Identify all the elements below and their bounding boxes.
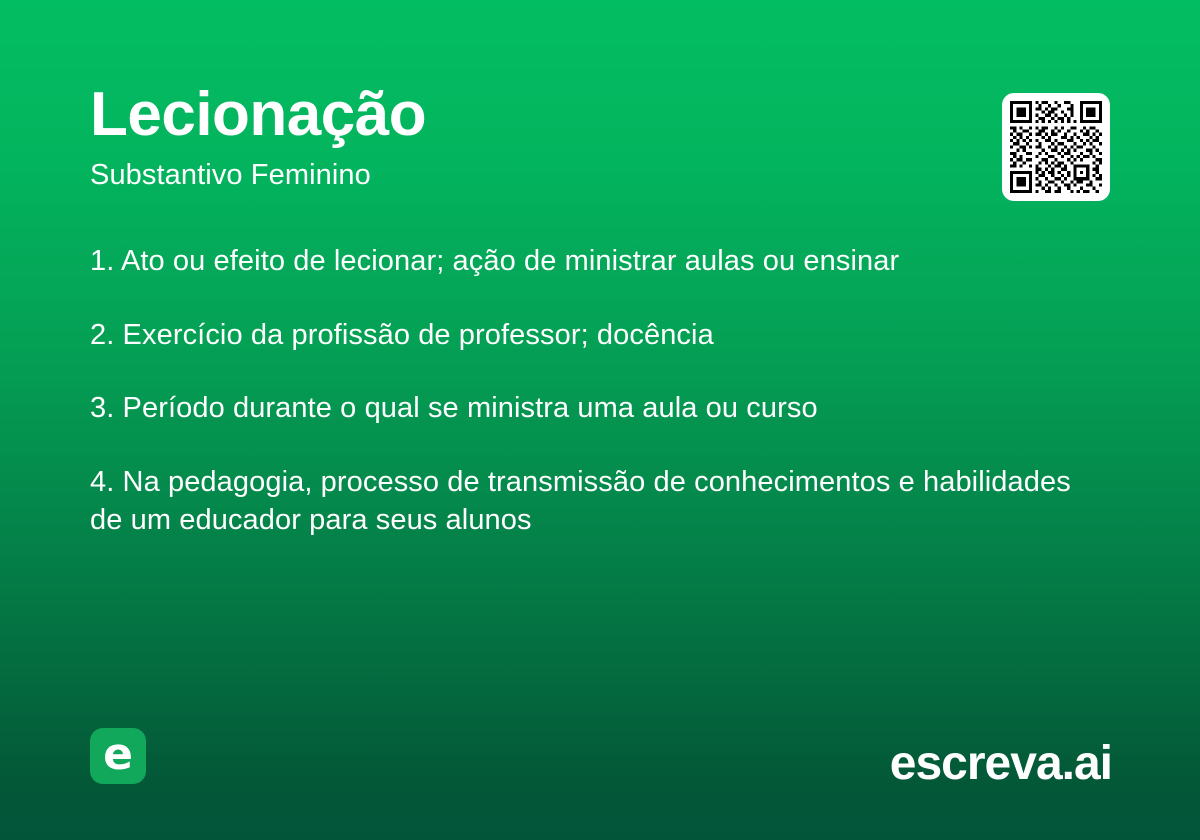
- qr-code-card[interactable]: [1002, 93, 1110, 201]
- qr-code-icon: [1010, 101, 1102, 193]
- list-item: 2. Exercício da profissão de professor; …: [90, 317, 1090, 355]
- escreva-logo-icon: e: [90, 728, 146, 784]
- list-item: 4. Na pedagogia, processo de transmissão…: [90, 464, 1090, 539]
- brand-wordmark: escreva.ai: [890, 740, 1112, 788]
- definitions-list: 1. Ato ou efeito de lecionar; ação de mi…: [90, 243, 1090, 539]
- logo-letter: e: [103, 733, 133, 777]
- list-item: 3. Período durante o qual se ministra um…: [90, 390, 1090, 428]
- word-class-label: Substantivo Feminino: [90, 160, 950, 192]
- list-item: 1. Ato ou efeito de lecionar; ação de mi…: [90, 243, 1090, 281]
- page-title: Lecionação: [90, 84, 950, 146]
- dictionary-card: Lecionação Substantivo Feminino: [0, 0, 1200, 840]
- card-header: Lecionação Substantivo Feminino: [90, 84, 950, 192]
